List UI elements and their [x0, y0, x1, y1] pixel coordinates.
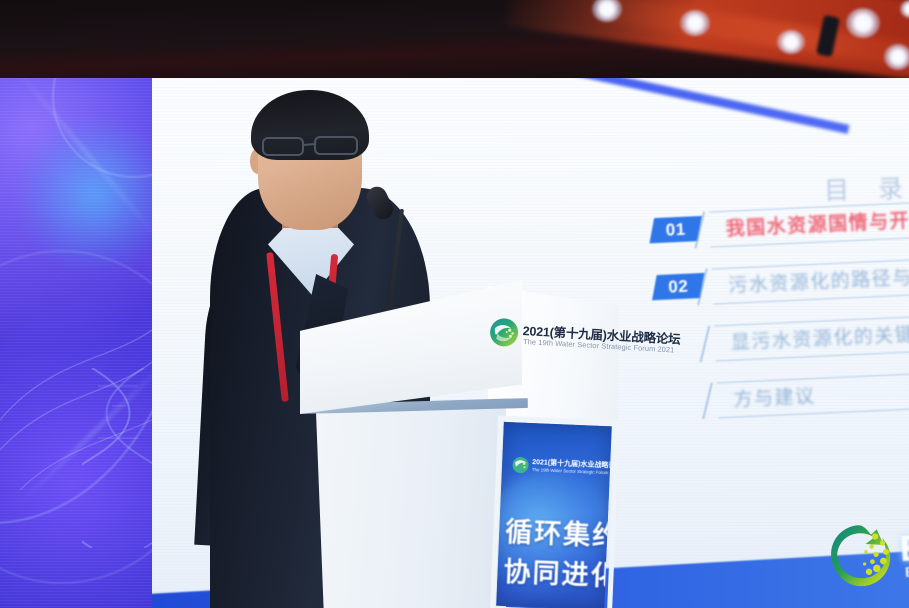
- podium-lectern: 2021(第十九届)水业战略论坛 The 19th Water Sector S…: [298, 276, 658, 608]
- podium-front-body: [316, 404, 506, 608]
- ceiling-truss: [0, 0, 909, 78]
- slide-toc-list: 01 我国水资源国情与开发管理 02 污水资源化的路径与重点 03 显污水资源化…: [617, 194, 909, 443]
- stage-light-2: [680, 10, 710, 36]
- toc-number-label: 02: [668, 274, 689, 300]
- toc-item-text: 方与建议: [733, 381, 816, 412]
- led-grid-lines: [0, 300, 152, 550]
- stage-light-5: [884, 44, 909, 70]
- podium-banner-frame: [490, 416, 620, 608]
- slide-title: 目 录: [824, 169, 909, 207]
- eyeglasses-icon: [262, 136, 360, 158]
- led-wall-left: [0, 0, 152, 608]
- e20-swoosh-icon: [824, 521, 895, 592]
- stage-light-4: [846, 8, 880, 38]
- toc-number-label: 01: [665, 217, 686, 243]
- toc-item-02: 02 污水资源化的路径与重点: [620, 251, 909, 310]
- toc-number-badge: 02: [652, 273, 705, 300]
- e20-forum-logo: E20论坛 E20 FORUM: [824, 506, 909, 596]
- toc-item-04: 04 方与建议: [625, 365, 909, 424]
- toc-number-badge: 01: [649, 216, 702, 243]
- podium-forum-sign: 2021(第十九届)水业战略论坛 The 19th Water Sector S…: [487, 318, 631, 372]
- water-forum-logo-icon: [488, 316, 521, 349]
- stage-light-3: [777, 30, 805, 54]
- toc-number-label: 04: [673, 388, 694, 414]
- conference-stage-photo: 目 录 01 我国水资源国情与开发管理 02 污水资源化的路径与重点 03: [0, 0, 909, 608]
